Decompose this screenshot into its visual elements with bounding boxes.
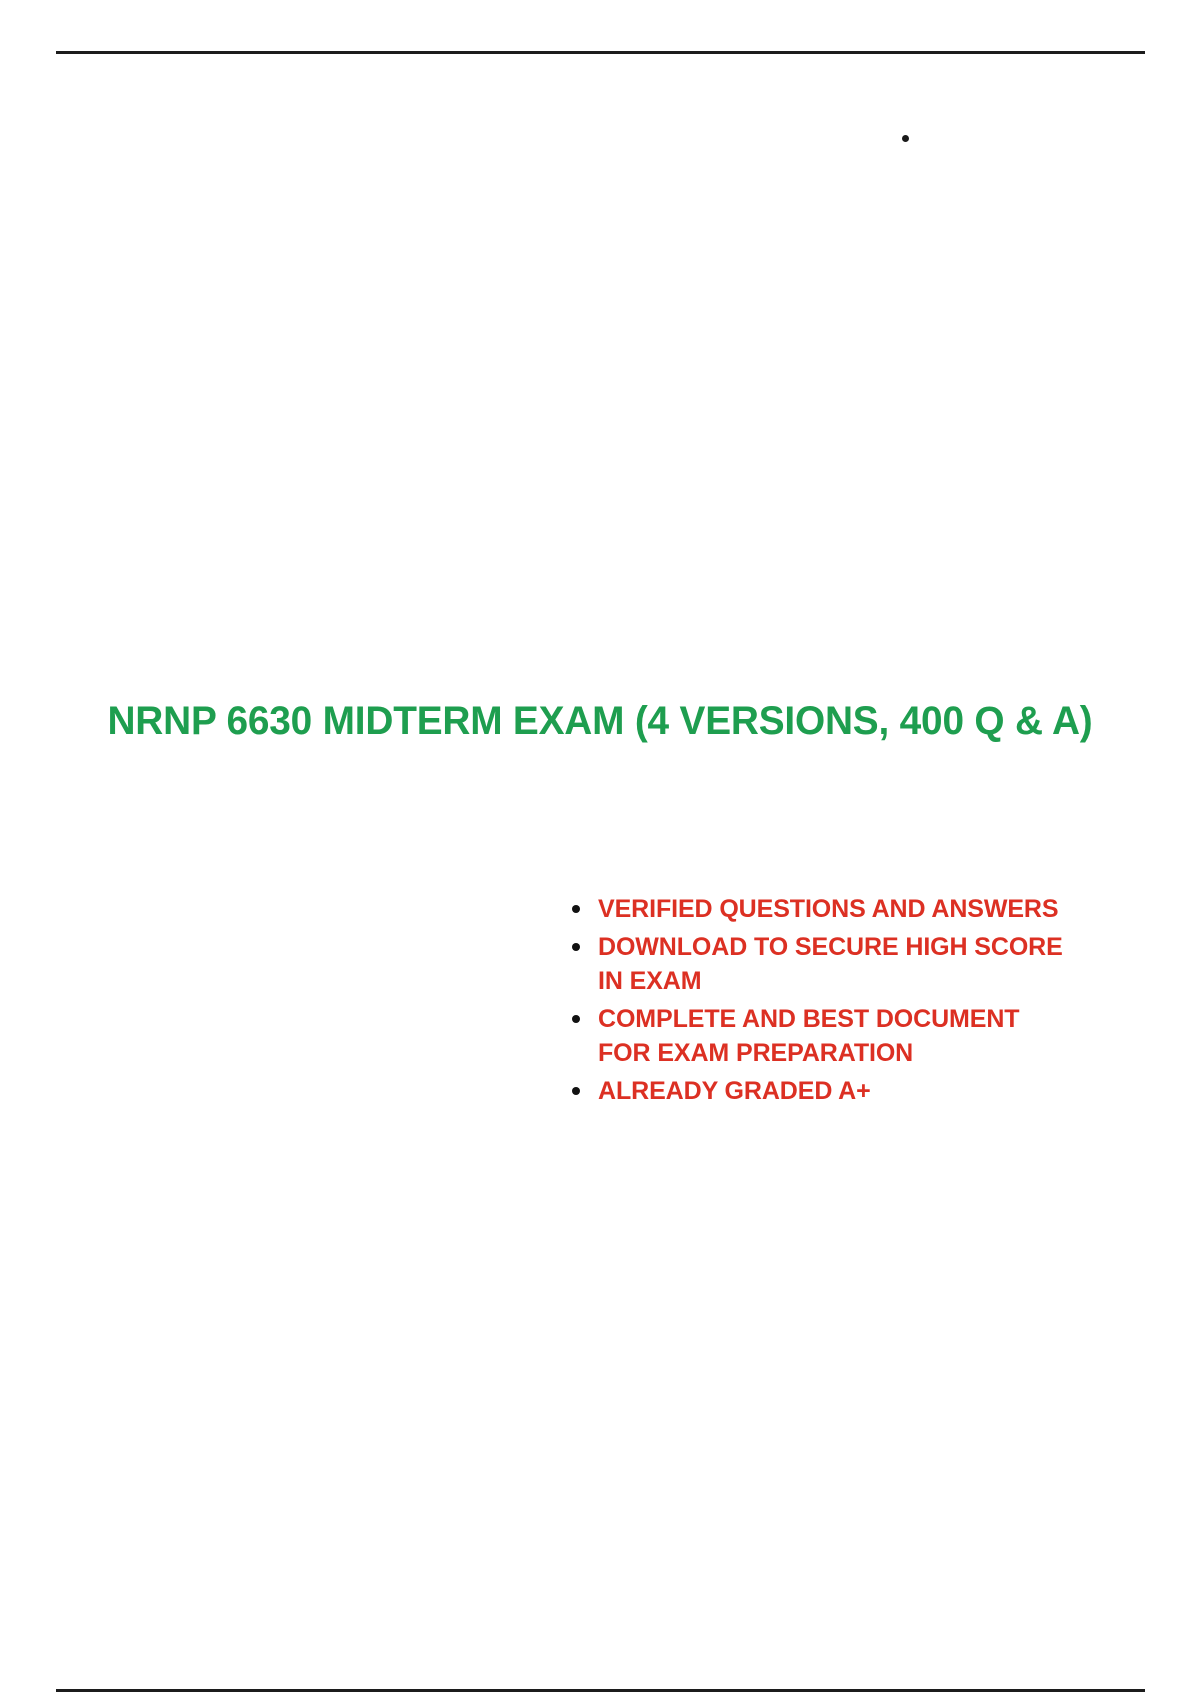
page-title: NRNP 6630 MIDTERM EXAM (4 VERSIONS, 400 … [18,699,1182,744]
list-item: COMPLETE AND BEST DOCUMENT FOR EXAM PREP… [598,1002,1068,1070]
list-item: ALREADY GRADED A+ [598,1074,1068,1108]
footer-divider-rule [56,1689,1145,1692]
list-item: VERIFIED QUESTIONS AND ANSWERS [598,892,1068,926]
list-item: DOWNLOAD TO SECURE HIGH SCORE IN EXAM [598,930,1068,998]
header-divider-rule [56,51,1145,54]
document-page: NRNP 6630 MIDTERM EXAM (4 VERSIONS, 400 … [0,0,1200,1700]
highlights-list: VERIFIED QUESTIONS AND ANSWERS DOWNLOAD … [560,892,1068,1112]
stray-dot-icon [902,135,909,142]
